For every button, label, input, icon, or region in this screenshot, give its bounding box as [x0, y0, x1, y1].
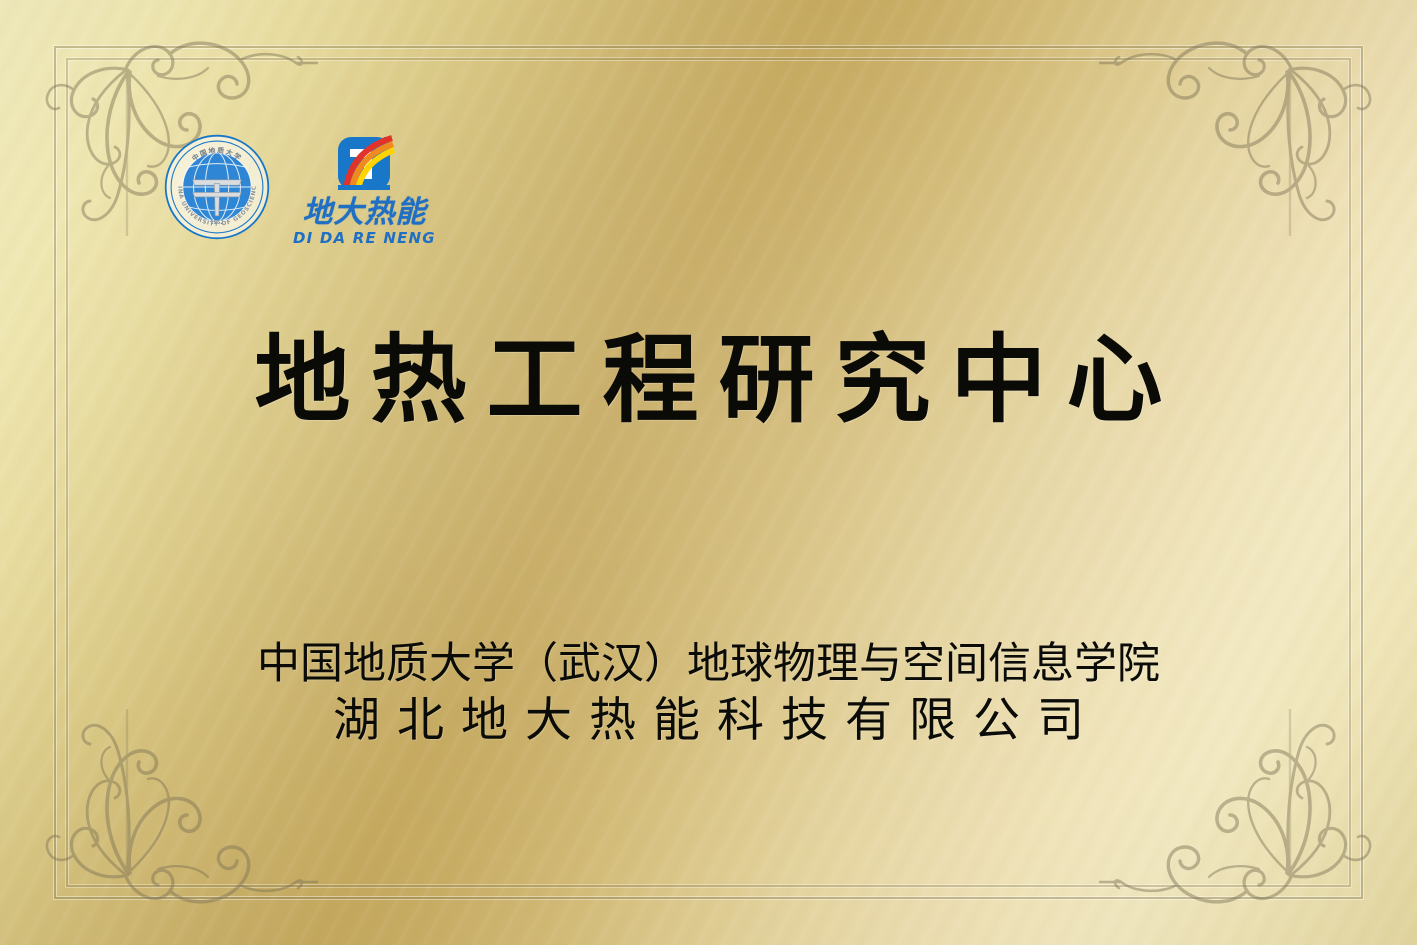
cug-emblem: 中国地质大学 CHINA UNIVERSITY OF GEOSCIENCES 1… — [163, 133, 271, 241]
subtitle-line-company: 湖北地大热能科技有限公司 — [0, 692, 1417, 749]
svg-text:1952: 1952 — [210, 220, 224, 226]
logo-row: 中国地质大学 CHINA UNIVERSITY OF GEOSCIENCES 1… — [163, 133, 436, 246]
subtitle-line-university: 中国地质大学（武汉）地球物理与空间信息学院 — [0, 640, 1417, 688]
subtitle-block: 中国地质大学（武汉）地球物理与空间信息学院 湖北地大热能科技有限公司 — [0, 640, 1417, 749]
award-plaque: 中国地质大学 CHINA UNIVERSITY OF GEOSCIENCES 1… — [0, 0, 1417, 945]
didareneng-mark-icon — [330, 135, 398, 197]
page-title: 地热工程研究中心 — [0, 332, 1417, 428]
company-name-cn: 地大热能 — [302, 198, 426, 228]
company-name-pinyin: DI DA RE NENG — [293, 231, 436, 246]
didareneng-logo: 地大热能 DI DA RE NENG — [293, 133, 436, 246]
